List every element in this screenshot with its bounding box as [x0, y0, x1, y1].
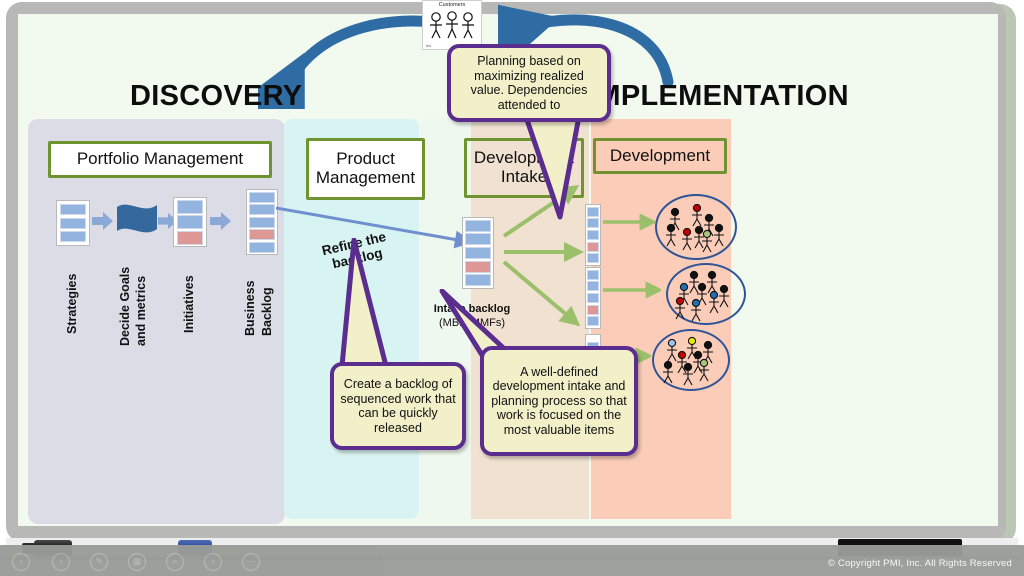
previous-slide-icon[interactable]: ‹: [52, 553, 70, 571]
pen-tool-icon[interactable]: ✎: [90, 553, 108, 571]
card-stack-intake-backlog: [462, 217, 494, 289]
decide-goals-flag-icon: [113, 199, 161, 241]
customers-icon-label: Customers: [423, 1, 481, 9]
arrow-initiatives-to-backlog: [210, 211, 232, 231]
step-label-decide-goals-line1: Decide Goals: [119, 267, 132, 346]
card-stack-initiatives: [173, 197, 207, 247]
arrow-backlog-to-team-circle-2: [603, 282, 661, 298]
team-circle-1: [655, 194, 737, 260]
card-stack-strategies: [56, 200, 90, 246]
step-label-business-line1: Business: [244, 280, 257, 336]
callout-backlog: Create a backlog of sequenced work that …: [330, 362, 466, 450]
copyright-text: © Copyright PMI, Inc. All Rights Reserve…: [828, 558, 1012, 569]
column-header-development: Development: [593, 138, 727, 174]
column-header-product-management: Product Management: [306, 138, 425, 200]
more-options-icon[interactable]: ⋯: [242, 553, 260, 571]
customers-icon-sublabel: Inc: [426, 43, 431, 48]
team-people-group-2: [668, 265, 744, 323]
column-header-portfolio-management: Portfolio Management: [48, 141, 272, 178]
team-people-group-3: [654, 331, 728, 389]
step-label-strategies: Strategies: [66, 274, 79, 334]
callout-tail-planning: [518, 109, 588, 224]
step-label-decide-goals-line2: and metrics: [135, 276, 148, 346]
callout-intake: A well-defined development intake and pl…: [480, 346, 638, 456]
arrow-backlog-to-team-circle-1: [603, 214, 655, 230]
team-circle-2: [666, 263, 746, 325]
all-slides-icon[interactable]: ▦: [128, 553, 146, 571]
callout-tail-backlog: [338, 238, 394, 373]
screenshot-root: Customers Inc DISCOVERY IMPLEMENTATION P…: [0, 0, 1024, 576]
callout-planning: Planning based on maximizing realized va…: [447, 44, 611, 122]
step-label-initiatives: Initiatives: [183, 275, 196, 333]
arrow-strategies-to-goals: [92, 211, 114, 231]
team-people-group-1: [657, 196, 735, 258]
slideshow-menu-icon[interactable]: ‹: [12, 553, 30, 571]
phase-title-discovery: DISCOVERY: [130, 80, 302, 113]
customers-icon: Customers Inc: [422, 0, 482, 50]
card-stack-business-backlog: [246, 189, 278, 255]
slide-canvas: Customers Inc DISCOVERY IMPLEMENTATION P…: [18, 14, 998, 526]
next-slide-icon[interactable]: ›: [204, 553, 222, 571]
step-label-business-line2: Backlog: [261, 287, 274, 336]
team-circle-3: [652, 329, 730, 391]
zoom-tool-icon[interactable]: ⌕: [166, 553, 184, 571]
phase-title-implementation: IMPLEMENTATION: [588, 80, 849, 113]
card-stack-team-backlog-2: [585, 267, 601, 329]
